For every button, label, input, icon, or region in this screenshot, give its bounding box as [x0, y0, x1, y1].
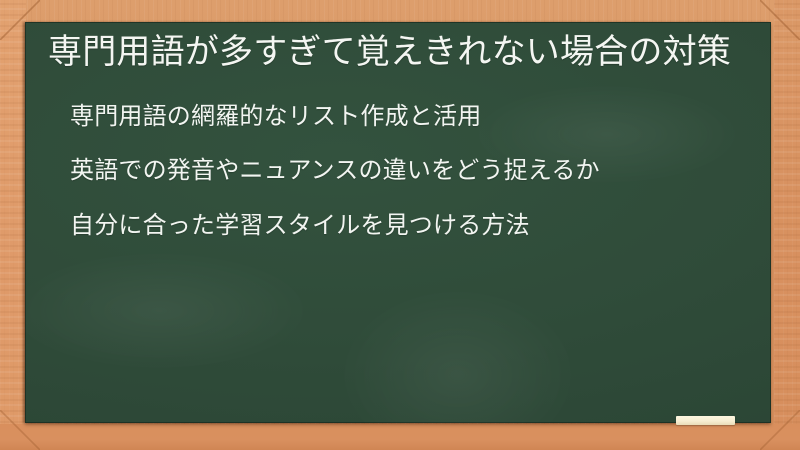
frame-left-stile — [0, 0, 26, 450]
topic-list: 専門用語の網羅的なリスト作成と活用 英語での発音やニュアンスの違いをどう捉えるか… — [48, 102, 749, 241]
chalkboard-slide: 専門用語が多すぎて覚えきれない場合の対策 専門用語の網羅的なリスト作成と活用 英… — [0, 0, 800, 450]
list-item: 自分に合った学習スタイルを見つける方法 — [70, 211, 749, 241]
chalkboard-surface: 専門用語が多すぎて覚えきれない場合の対策 専門用語の網羅的なリスト作成と活用 英… — [25, 22, 771, 423]
list-item: 専門用語の網羅的なリスト作成と活用 — [70, 102, 749, 132]
frame-bottom-rail — [0, 424, 800, 450]
slide-title: 専門用語が多すぎて覚えきれない場合の対策 — [48, 30, 738, 76]
frame-right-stile — [774, 0, 800, 450]
chalkboard-content: 専門用語が多すぎて覚えきれない場合の対策 専門用語の網羅的なリスト作成と活用 英… — [25, 22, 771, 423]
chalk-stick — [676, 416, 735, 425]
list-item: 英語での発音やニュアンスの違いをどう捉えるか — [70, 156, 749, 186]
